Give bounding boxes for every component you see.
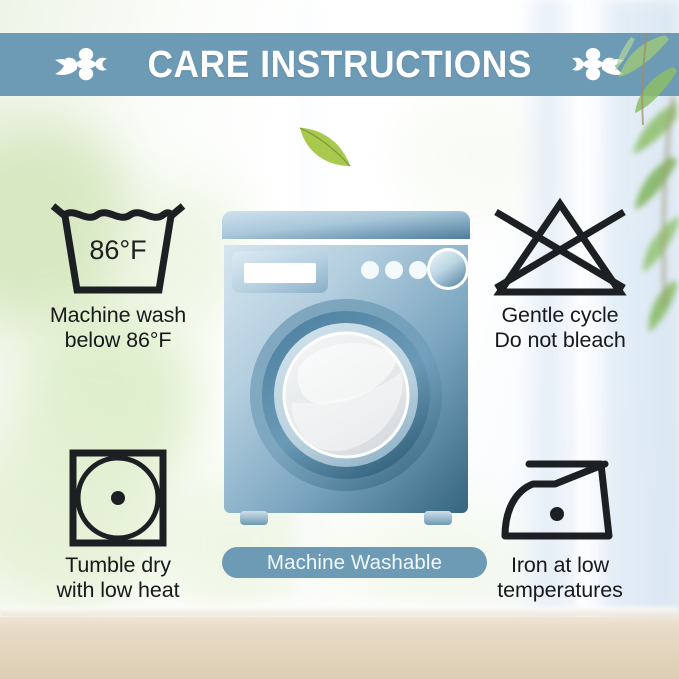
care-label-line1: Gentle cycle <box>501 303 618 327</box>
care-symbol-no-bleach: Gentle cycle Do not bleach <box>455 193 665 353</box>
no-bleach-triangle-icon <box>486 196 634 300</box>
iron-art <box>455 443 665 553</box>
page-title: CARE INSTRUCTIONS <box>147 46 531 84</box>
detergent-drawer-slot <box>244 263 316 283</box>
care-symbol-label: Gentle cycle Do not bleach <box>455 303 665 353</box>
wash-tub-art: 86°F <box>13 193 223 303</box>
care-label-line2: below 86°F <box>13 328 223 353</box>
table-edge <box>0 607 679 617</box>
care-label-line1: Iron at low <box>511 553 609 577</box>
machine-foot <box>424 511 452 525</box>
care-symbol-label: Tumble dry with low heat <box>13 553 223 603</box>
care-label-line1: Machine wash <box>50 303 186 327</box>
fleur-de-lis-icon <box>53 45 119 85</box>
machine-foot <box>240 511 268 525</box>
iron-icon <box>495 446 625 550</box>
machine-top-panel <box>222 211 470 239</box>
no-bleach-art <box>455 193 665 303</box>
care-symbol-iron: Iron at low temperatures <box>455 443 665 603</box>
care-symbol-tumble-dry: Tumble dry with low heat <box>13 443 223 603</box>
care-label-line2: with low heat <box>13 578 223 603</box>
table-surface <box>0 617 679 679</box>
fleur-de-lis-icon <box>560 45 626 85</box>
control-knob <box>430 251 466 287</box>
wash-temperature-value: 86°F <box>89 235 146 265</box>
header-banner: CARE INSTRUCTIONS <box>0 33 679 96</box>
care-label-line2: temperatures <box>455 578 665 603</box>
control-button <box>385 261 403 279</box>
control-button <box>361 261 379 279</box>
wash-tub-icon: 86°F <box>45 196 191 300</box>
machine-washable-label: Machine Washable <box>267 551 442 575</box>
care-symbol-machine-wash: 86°F Machine wash below 86°F <box>13 193 223 353</box>
floating-leaf-icon <box>296 122 354 170</box>
care-label-line1: Tumble dry <box>65 553 171 577</box>
tumble-dry-icon <box>66 446 170 550</box>
machine-washable-badge: Machine Washable <box>222 547 487 578</box>
care-label-line2: Do not bleach <box>455 328 665 353</box>
care-symbol-label: Machine wash below 86°F <box>13 303 223 353</box>
tumble-dry-art <box>13 443 223 553</box>
control-button <box>409 261 427 279</box>
washing-machine-illustration <box>222 207 470 537</box>
care-instructions-infographic: CARE INSTRUCTIONS 86°F Machine wash <box>0 0 679 679</box>
